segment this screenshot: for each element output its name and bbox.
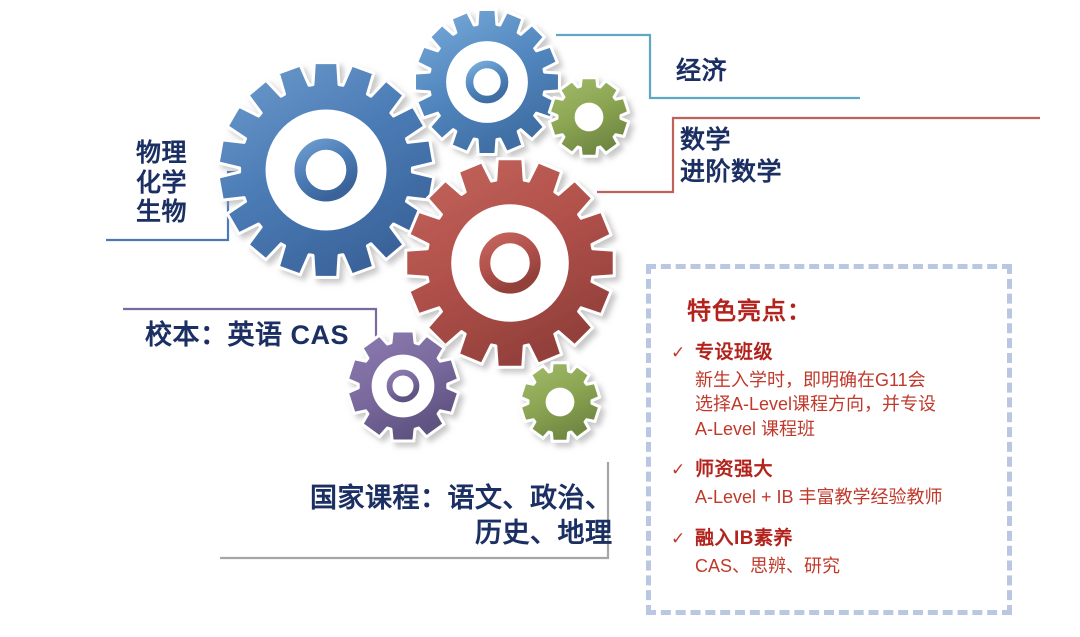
- feature-title: 专设班级: [695, 337, 773, 364]
- label-economics: 经济: [676, 57, 727, 87]
- gear-purple-icon: [347, 331, 458, 441]
- label-school-based: 校本：英语 CAS: [145, 320, 349, 352]
- feature-title: 融入IB素养: [695, 523, 793, 550]
- gear-blue-large-icon: [218, 63, 434, 278]
- feature-item: ✓ 专设班级 新生入学时，即明确在G11会 选择A-Level课程方向，并专设 …: [669, 337, 999, 441]
- label-national-curriculum: 国家课程：语文、政治、 历史、地理: [310, 481, 613, 551]
- feature-body: 新生入学时，即明确在G11会 选择A-Level课程方向，并专设 A-Level…: [695, 368, 999, 441]
- diagram-canvas: 物理 化学 生物 经济 数学 进阶数学 校本：英语 CAS 国家课程：语文、政治…: [0, 0, 1080, 637]
- label-mathematics: 数学 进阶数学: [680, 125, 782, 188]
- check-icon: ✓: [669, 460, 695, 480]
- highlights-panel: 特色亮点： ✓ 专设班级 新生入学时，即明确在G11会 选择A-Level课程方…: [646, 264, 1012, 615]
- feature-body: CAS、思辨、研究: [695, 554, 999, 578]
- label-science: 物理 化学 生物: [136, 139, 187, 228]
- feature-item: ✓ 融入IB素养 CAS、思辨、研究: [669, 523, 999, 578]
- gear-blue-medium-icon: [415, 10, 560, 155]
- feature-item: ✓ 师资强大 A-Level + IB 丰富教学经验教师: [669, 454, 999, 509]
- feature-body: A-Level + IB 丰富教学经验教师: [695, 485, 999, 509]
- feature-title: 师资强大: [695, 454, 773, 481]
- gear-green-low-icon: [520, 363, 599, 441]
- gear-green-top-icon: [549, 78, 628, 156]
- check-icon: ✓: [669, 343, 695, 363]
- panel-title: 特色亮点：: [687, 291, 812, 326]
- check-icon: ✓: [669, 529, 695, 549]
- gear-red-large-icon: [406, 159, 614, 367]
- feature-list: ✓ 专设班级 新生入学时，即明确在G11会 选择A-Level课程方向，并专设 …: [669, 337, 999, 591]
